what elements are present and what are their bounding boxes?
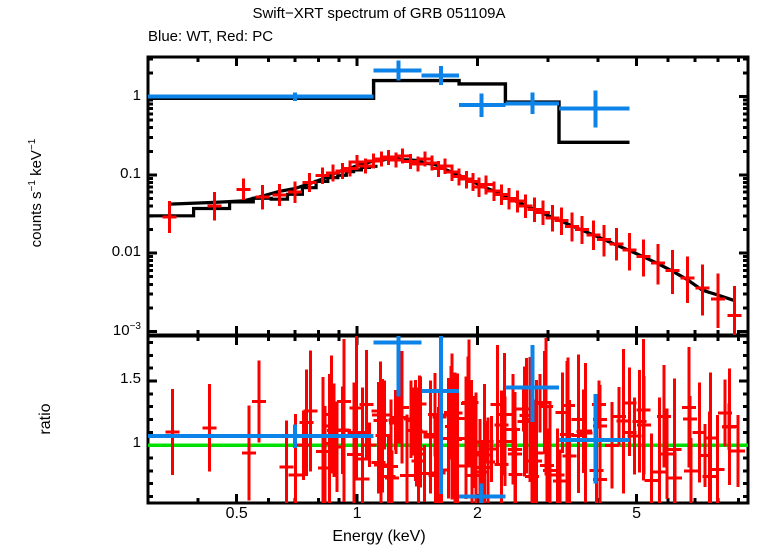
x-tick-label: 2 <box>447 505 507 523</box>
x-tick-label: 0.5 <box>207 505 267 523</box>
y-tick-label-main: 1 <box>55 87 141 104</box>
legend-subtitle: Blue: WT, Red: PC <box>148 28 273 45</box>
y-tick-label-ratio: 1 <box>55 434 141 451</box>
y-axis-label-ratio: ratio <box>37 379 55 459</box>
y-tick-label-main: 0.01 <box>55 243 141 260</box>
y-tick-label-main: 10−3 <box>55 321 141 339</box>
y-tick-label-main: 0.1 <box>55 165 141 182</box>
y-tick-label-ratio: 1.5 <box>55 370 141 387</box>
y-axis-label-main: counts s−1 keV−1 <box>27 93 45 293</box>
page-title: Swift−XRT spectrum of GRB 051109A <box>0 5 758 22</box>
spectrum-figure <box>0 0 758 556</box>
x-tick-label: 5 <box>607 505 667 523</box>
x-axis-label: Energy (keV) <box>0 528 758 546</box>
x-tick-label: 1 <box>327 505 387 523</box>
